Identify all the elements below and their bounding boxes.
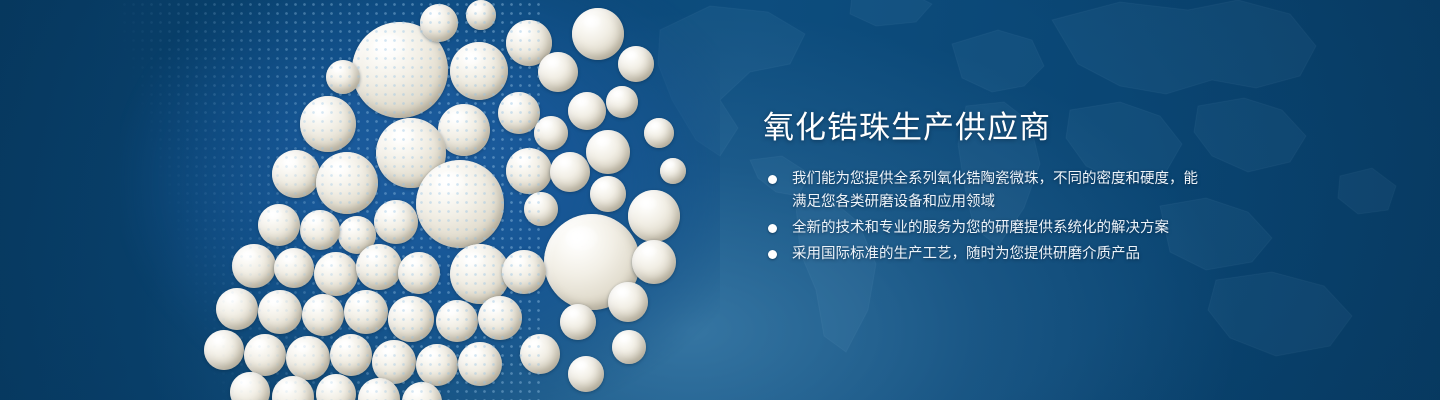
list-item: 我们能为您提供全系列氧化锆陶瓷微珠，不同的密度和硬度，能满足您各类研磨设备和应用… [763,168,1203,214]
bead [606,86,638,118]
banner-copy: 氧化锆珠生产供应商 我们能为您提供全系列氧化锆陶瓷微珠，不同的密度和硬度，能满足… [763,108,1203,269]
list-item: 全新的技术和专业的服务为您的研磨提供系统化的解决方案 [763,217,1203,240]
bead [644,118,674,148]
bead [608,282,648,322]
bead [560,304,596,340]
bead [590,176,626,212]
bullet-dot-icon [768,175,777,184]
list-item-text: 我们能为您提供全系列氧化锆陶瓷微珠，不同的密度和硬度，能满足您各类研磨设备和应用… [792,171,1198,210]
bead [612,330,646,364]
hero-banner: 氧化锆珠生产供应商 我们能为您提供全系列氧化锆陶瓷微珠，不同的密度和硬度，能满足… [0,0,1440,400]
page-title: 氧化锆珠生产供应商 [763,108,1203,148]
zirconia-beads-photo [120,0,720,400]
bead [632,240,676,284]
bead [568,356,604,392]
bullet-dot-icon [768,224,777,233]
bead [550,152,590,192]
bead [538,52,578,92]
bead [572,8,624,60]
list-item-text: 全新的技术和专业的服务为您的研磨提供系统化的解决方案 [792,220,1169,236]
bullet-dot-icon [768,250,777,259]
bead [660,158,686,184]
bead [618,46,654,82]
bead [586,130,630,174]
bead [568,92,606,130]
list-item-text: 采用国际标准的生产工艺，随时为您提供研磨介质产品 [792,246,1140,262]
halftone-fade-overlay [120,0,540,400]
feature-list: 我们能为您提供全系列氧化锆陶瓷微珠，不同的密度和硬度，能满足您各类研磨设备和应用… [763,168,1203,266]
bead [628,190,680,242]
list-item: 采用国际标准的生产工艺，随时为您提供研磨介质产品 [763,243,1203,266]
